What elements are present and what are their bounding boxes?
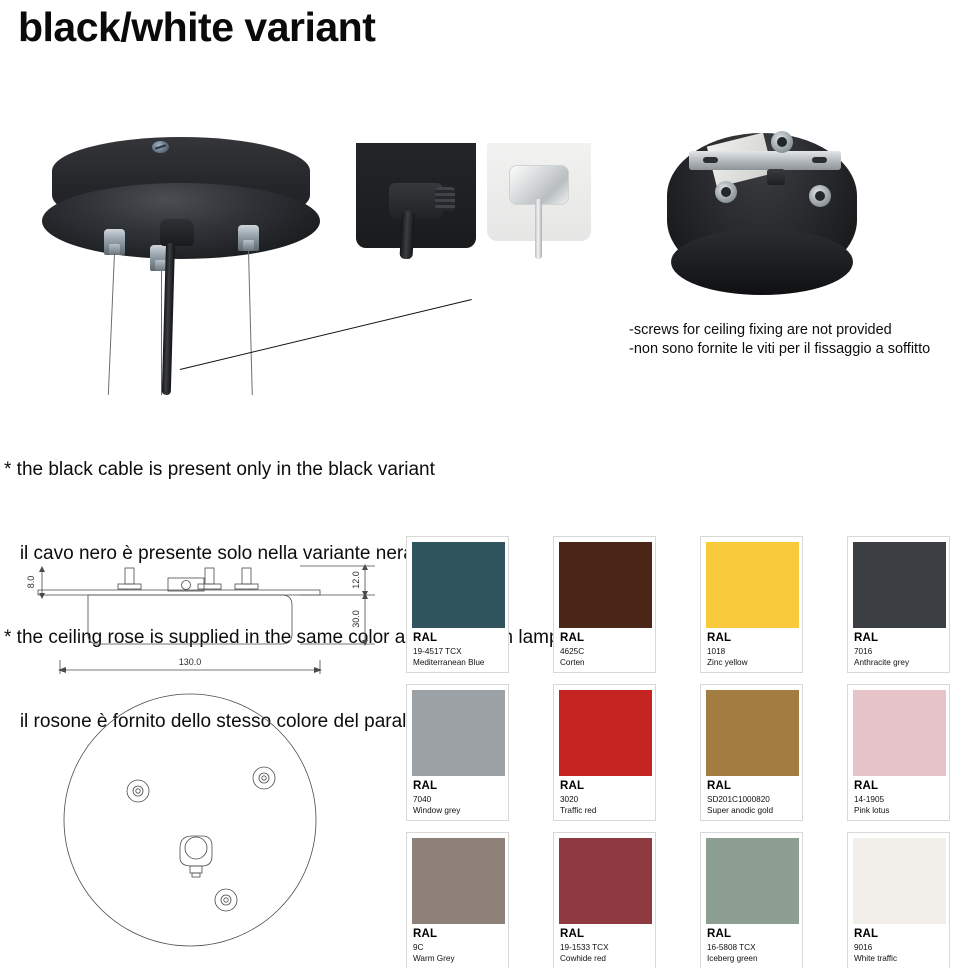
swatch-color-block (559, 838, 652, 924)
swatch-name: Window grey (413, 805, 503, 816)
swatch-name: Mediterranean Blue (413, 657, 503, 668)
swatch-color-block (853, 542, 946, 628)
photo-ceiling-rose-interior (667, 133, 857, 305)
swatch-color-block (853, 838, 946, 924)
swatch-card[interactable]: RAL9CWarm Grey (406, 832, 509, 968)
swatch-code: 4625C (560, 646, 650, 657)
cable-grip-left (104, 229, 125, 255)
page-title: black/white variant (18, 2, 375, 52)
mounting-bracket (689, 151, 841, 170)
photo-detail-clear-gland (487, 143, 591, 259)
swatch-name: Pink lotus (854, 805, 944, 816)
note-cable-en: * the black cable is present only in the… (4, 456, 611, 484)
swatch-card[interactable]: RAL19-4517 TCXMediterranean Blue (406, 536, 509, 673)
swatch-color-block (559, 542, 652, 628)
swatch-meta: RAL7016Anthracite grey (853, 628, 944, 668)
swatch-card[interactable]: RAL7016Anthracite grey (847, 536, 950, 673)
swatch-code: SD201C1000820 (707, 794, 797, 805)
swatch-card[interactable]: RAL19-1533 TCXCowhide red (553, 832, 656, 968)
swatch-meta: RAL9CWarm Grey (412, 924, 503, 964)
swatch-name: Iceberg green (707, 953, 797, 964)
plan-view-outline (64, 694, 316, 946)
interior-hole-left (715, 181, 737, 203)
side-view-bracket-hole (182, 581, 191, 590)
note-screws-en: -screws for ceiling fixing are not provi… (629, 321, 930, 340)
swatch-brand: RAL (413, 632, 503, 645)
swatch-meta: RAL16-5808 TCXIceberg green (706, 924, 797, 964)
swatch-card[interactable]: RAL14-1905Pink lotus (847, 684, 950, 821)
swatch-meta: RAL7040Window grey (412, 776, 503, 816)
swatch-card[interactable]: RAL16-5808 TCXIceberg green (700, 832, 803, 968)
swatch-name: Traffic red (560, 805, 650, 816)
swatch-card[interactable]: RALSD201C1000820Super anodic gold (700, 684, 803, 821)
swatch-name: Zinc yellow (707, 657, 797, 668)
swatch-brand: RAL (560, 928, 650, 941)
interior-center-gland (767, 169, 785, 185)
swatch-color-block (706, 542, 799, 628)
plan-view-screw-holes (127, 767, 275, 911)
swatch-brand: RAL (707, 780, 797, 793)
swatch-name: Cowhide red (560, 953, 650, 964)
detail-cable-black (399, 211, 414, 260)
swatch-code: 9016 (854, 942, 944, 953)
spec-sheet-page: black/white variant (0, 0, 976, 968)
dim-label-12: 12.0 (351, 571, 361, 589)
interior-hole-top (771, 131, 793, 153)
swatch-code: 3020 (560, 794, 650, 805)
swatch-brand: RAL (854, 928, 944, 941)
technical-drawing-svg: 8.0 12.0 30.0 130.0 (20, 548, 392, 960)
swatch-code: 7016 (854, 646, 944, 657)
swatch-meta: RAL9016White traffic (853, 924, 944, 964)
dim-label-30: 30.0 (351, 610, 361, 628)
swatch-color-block (706, 838, 799, 924)
swatch-brand: RAL (854, 632, 944, 645)
color-swatch-grid: RAL19-4517 TCXMediterranean BlueRAL4625C… (406, 536, 950, 968)
swatch-card[interactable]: RAL9016White traffic (847, 832, 950, 968)
swatch-meta: RAL1018Zinc yellow (706, 628, 797, 668)
swatch-card[interactable]: RAL4625CCorten (553, 536, 656, 673)
swatch-code: 14-1905 (854, 794, 944, 805)
swatch-name: Anthracite grey (854, 657, 944, 668)
swatch-meta: RAL3020Traffic red (559, 776, 650, 816)
swatch-brand: RAL (413, 928, 503, 941)
swatch-brand: RAL (560, 632, 650, 645)
top-screw-icon (152, 141, 169, 153)
note-screws-it: -non sono fornite le viti per il fissagg… (629, 340, 930, 359)
photo-ceiling-rose-black (42, 133, 332, 395)
swatch-meta: RAL14-1905Pink lotus (853, 776, 944, 816)
note-screws: -screws for ceiling fixing are not provi… (629, 321, 930, 358)
swatch-color-block (412, 690, 505, 776)
cable-grip-right (238, 225, 259, 251)
detail-rod-transparent (535, 199, 542, 259)
leader-line (180, 299, 472, 370)
suspension-wire-left (108, 253, 115, 395)
swatch-color-block (706, 690, 799, 776)
technical-drawing: 8.0 12.0 30.0 130.0 (20, 548, 392, 960)
interior-rim (671, 229, 853, 295)
swatch-color-block (412, 542, 505, 628)
swatch-color-block (412, 838, 505, 924)
swatch-code: 7040 (413, 794, 503, 805)
swatch-name: Super anodic gold (707, 805, 797, 816)
swatch-brand: RAL (707, 928, 797, 941)
side-view-studs (118, 568, 258, 589)
detail-thread-black (435, 187, 455, 211)
swatch-brand: RAL (413, 780, 503, 793)
swatch-meta: RAL4625CCorten (559, 628, 650, 668)
plan-view-center-gland (180, 836, 212, 877)
swatch-card[interactable]: RAL7040Window grey (406, 684, 509, 821)
interior-hole-right (809, 185, 831, 207)
side-view-body (88, 595, 292, 644)
swatch-color-block (853, 690, 946, 776)
swatch-name: Warm Grey (413, 953, 503, 964)
swatch-card[interactable]: RAL3020Traffic red (553, 684, 656, 821)
swatch-name: Corten (560, 657, 650, 668)
swatch-brand: RAL (854, 780, 944, 793)
swatch-card[interactable]: RAL1018Zinc yellow (700, 536, 803, 673)
swatch-meta: RAL19-1533 TCXCowhide red (559, 924, 650, 964)
swatch-meta: RALSD201C1000820Super anodic gold (706, 776, 797, 816)
dim-label-130: 130.0 (179, 657, 202, 667)
suspension-wire-right (248, 251, 253, 395)
swatch-code: 1018 (707, 646, 797, 657)
swatch-code: 9C (413, 942, 503, 953)
swatch-brand: RAL (707, 632, 797, 645)
dim-label-8: 8.0 (26, 576, 36, 589)
swatch-color-block (559, 690, 652, 776)
swatch-brand: RAL (560, 780, 650, 793)
swatch-code: 16-5808 TCX (707, 942, 797, 953)
swatch-name: White traffic (854, 953, 944, 964)
cable-gland (160, 219, 194, 246)
swatch-meta: RAL19-4517 TCXMediterranean Blue (412, 628, 503, 668)
photo-detail-black-gland (356, 143, 476, 259)
swatch-code: 19-4517 TCX (413, 646, 503, 657)
swatch-code: 19-1533 TCX (560, 942, 650, 953)
